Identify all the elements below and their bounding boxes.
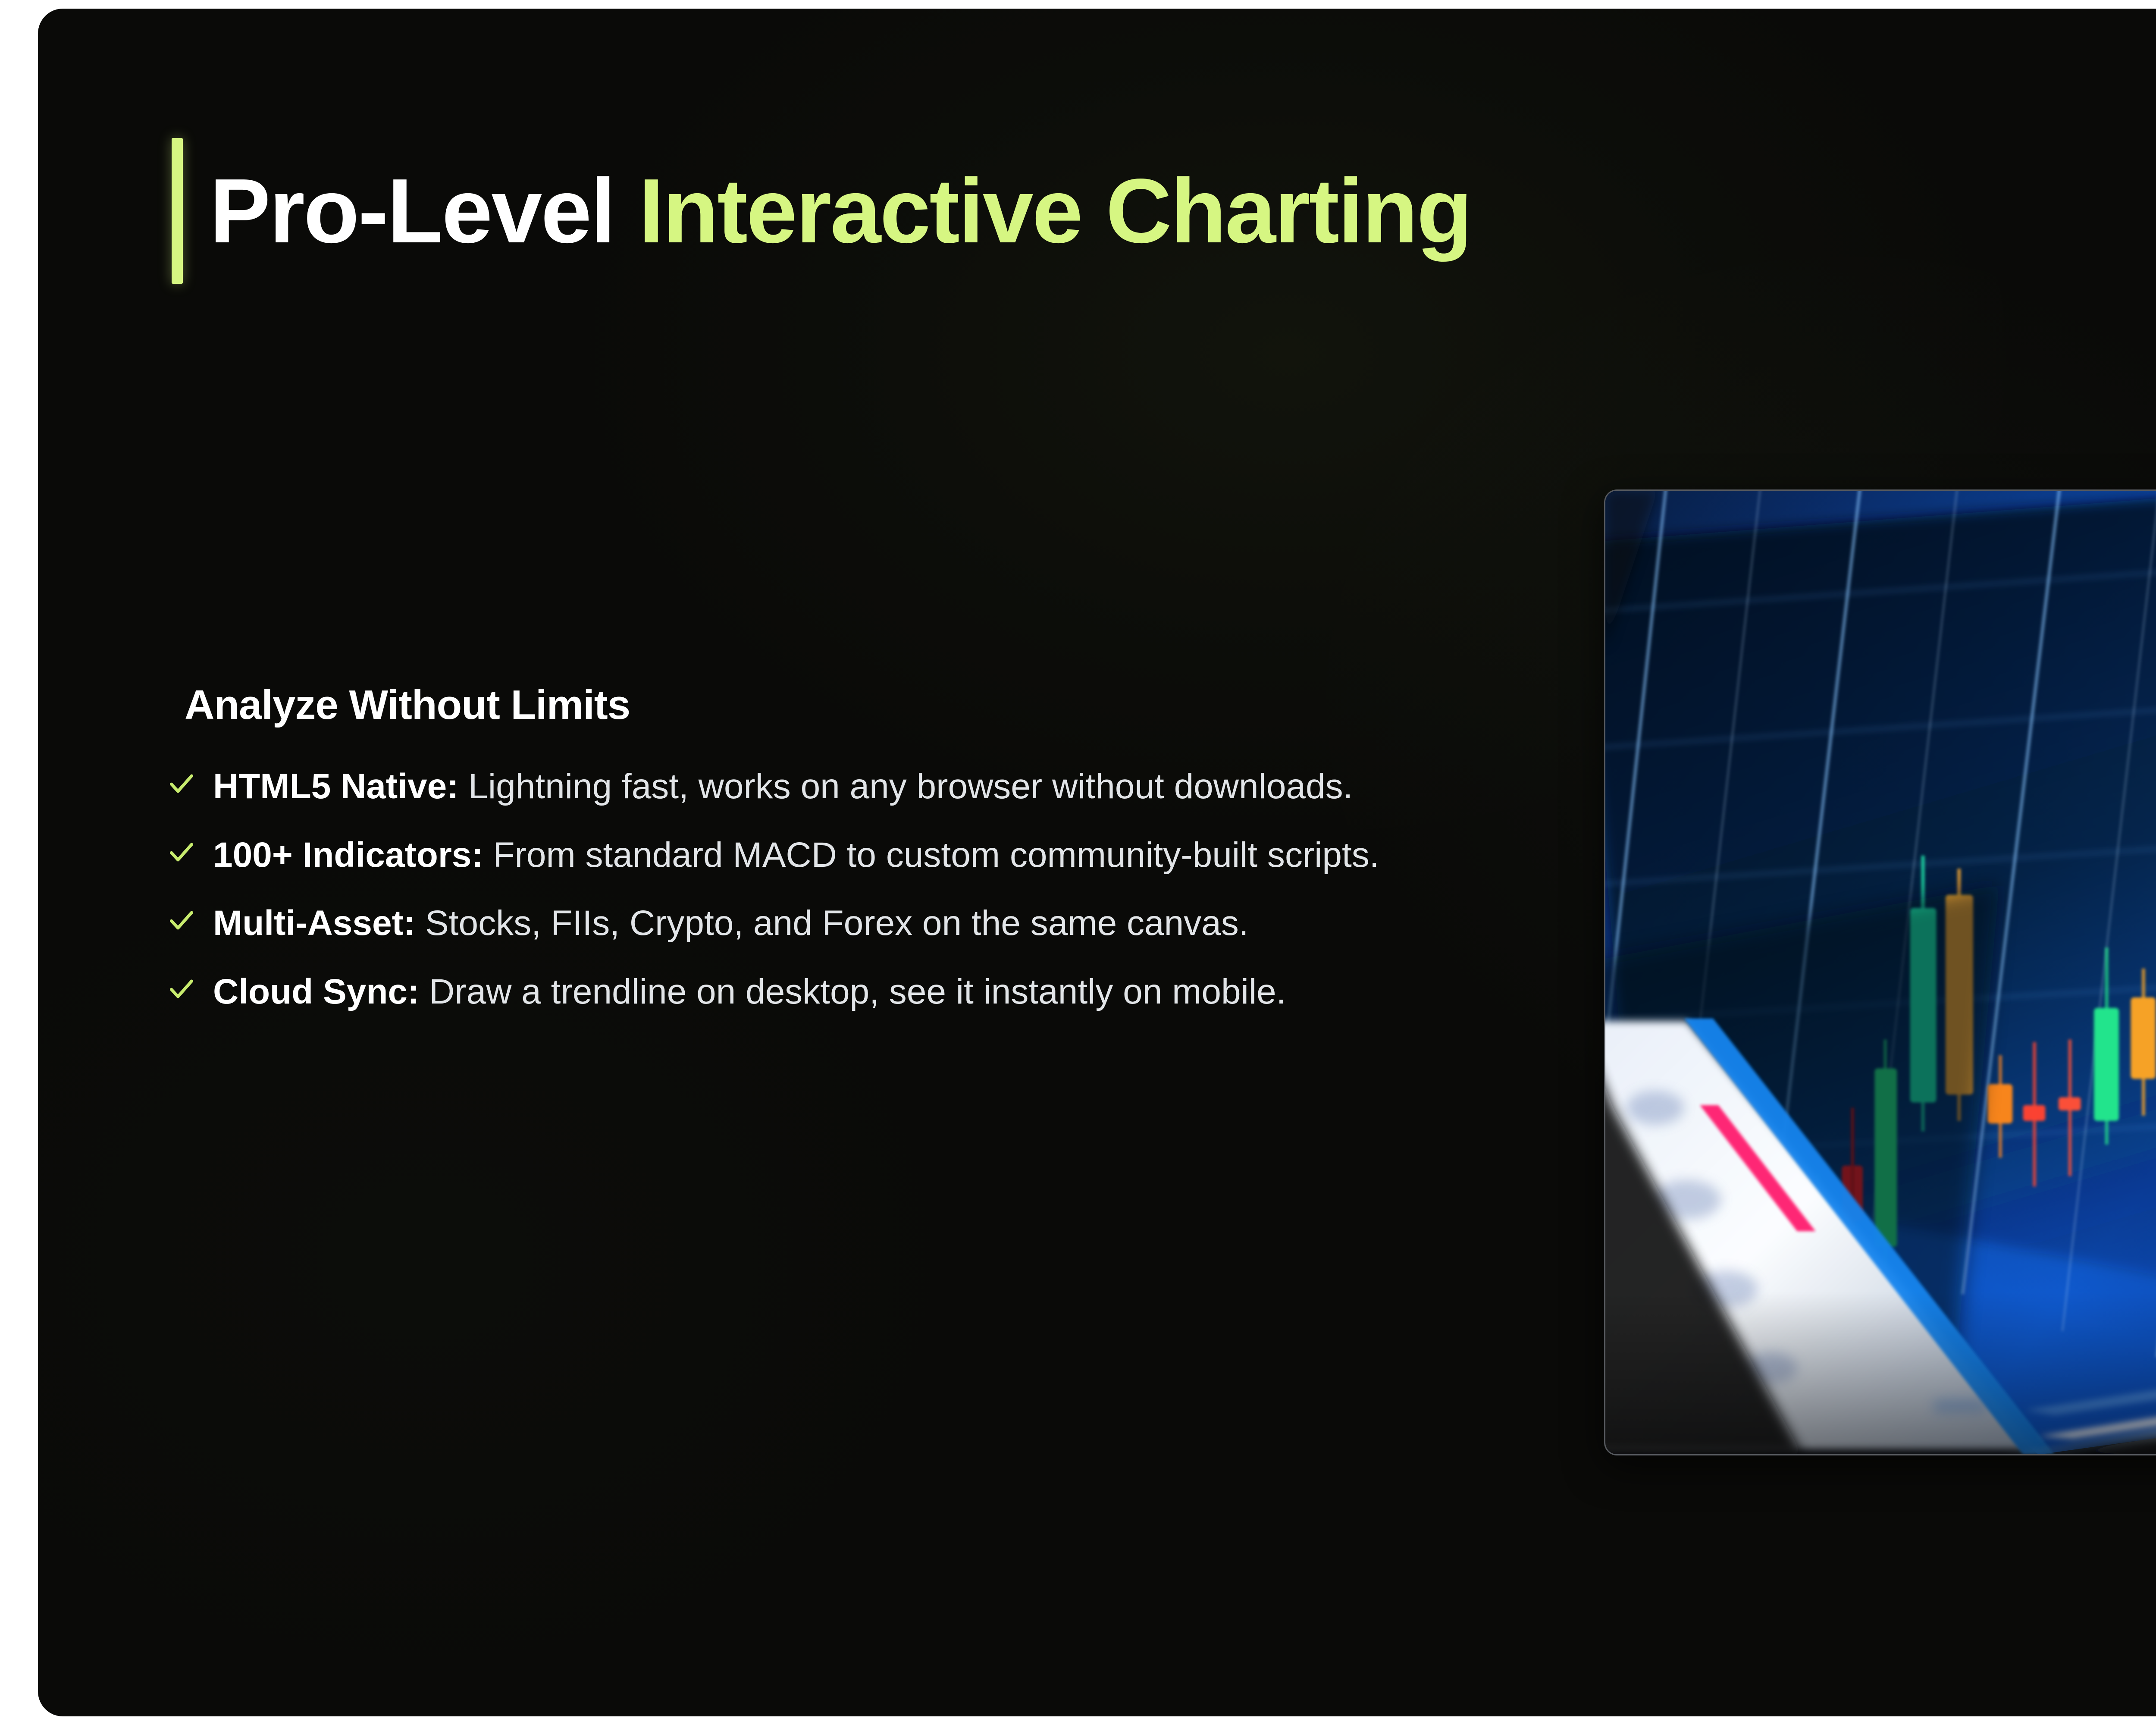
- list-item-label: Cloud Sync:: [213, 972, 419, 1011]
- check-icon: [167, 975, 196, 1003]
- content-column: Analyze Without Limits HTML5 Native: Lig…: [167, 681, 1547, 1034]
- list-item: Cloud Sync: Draw a trendline on desktop,…: [167, 965, 1547, 1019]
- list-item-body: Stocks, FIIs, Crypto, and Forex on the s…: [415, 903, 1248, 943]
- list-item-body: Draw a trendline on desktop, see it inst…: [419, 972, 1286, 1011]
- slide-canvas: Pro-Level Interactive Charting Analyze W…: [38, 9, 2156, 1716]
- check-icon: [167, 769, 196, 798]
- list-item-label: HTML5 Native:: [213, 767, 459, 806]
- chart-photo-svg: [1605, 491, 2156, 1454]
- title-text: Pro-Level Interactive Charting: [210, 163, 1471, 259]
- list-item: HTML5 Native: Lightning fast, works on a…: [167, 760, 1547, 814]
- list-item-text: 100+ Indicators: From standard MACD to c…: [213, 828, 1379, 882]
- check-icon: [167, 838, 196, 866]
- title-accent-bar: [172, 138, 183, 284]
- title-part-accent: Interactive Charting: [639, 160, 1471, 262]
- list-item-body: Lightning fast, works on any browser wit…: [459, 767, 1353, 806]
- title-part-white: Pro-Level: [210, 160, 639, 262]
- list-item-body: From standard MACD to custom community-b…: [483, 835, 1379, 875]
- list-item-text: Multi-Asset: Stocks, FIIs, Crypto, and F…: [213, 897, 1249, 950]
- feature-list: HTML5 Native: Lightning fast, works on a…: [167, 760, 1547, 1019]
- list-item-text: HTML5 Native: Lightning fast, works on a…: [213, 760, 1353, 814]
- list-item: 100+ Indicators: From standard MACD to c…: [167, 828, 1547, 882]
- page-title: Pro-Level Interactive Charting: [172, 138, 1471, 284]
- trading-chart-photo: [1604, 489, 2156, 1455]
- check-icon: [167, 906, 196, 935]
- list-item-text: Cloud Sync: Draw a trendline on desktop,…: [213, 965, 1286, 1019]
- subheading: Analyze Without Limits: [185, 681, 1547, 729]
- list-item: Multi-Asset: Stocks, FIIs, Crypto, and F…: [167, 897, 1547, 950]
- list-item-label: 100+ Indicators:: [213, 835, 483, 875]
- list-item-label: Multi-Asset:: [213, 903, 415, 943]
